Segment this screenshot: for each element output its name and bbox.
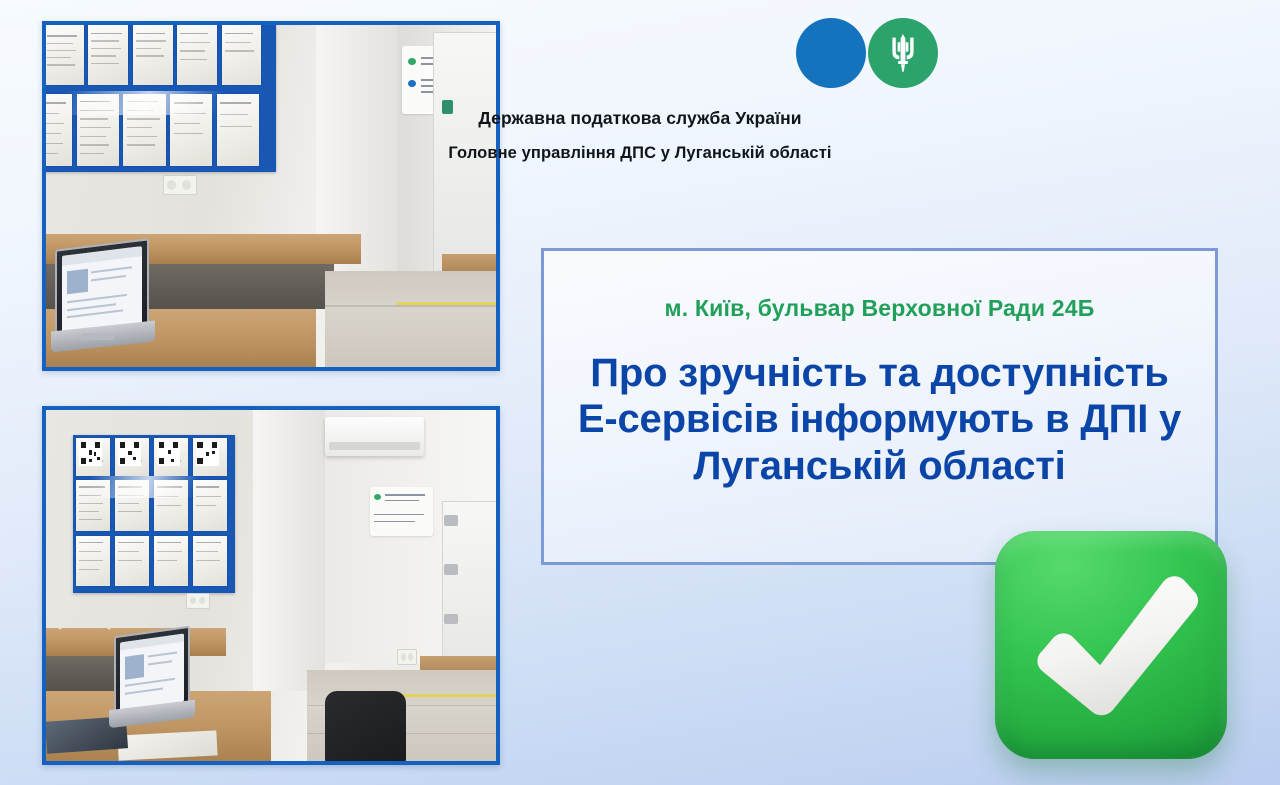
cabinet-handle — [444, 614, 458, 625]
cabinet-handle — [444, 564, 458, 575]
qr-code — [79, 441, 102, 466]
floor-marking — [397, 302, 496, 305]
cabinet-door — [442, 501, 498, 671]
qr-code — [196, 441, 219, 466]
org-name-line-1: Державна податкова служба України — [0, 108, 1280, 129]
notice-sheet — [115, 536, 149, 587]
cabinet-handle — [444, 515, 458, 526]
notice-sheet — [222, 23, 262, 85]
office-chair — [325, 691, 406, 765]
qr-code — [157, 441, 180, 466]
photo-bottom — [42, 406, 500, 765]
notice-sheet — [76, 536, 110, 587]
headline-line-1: Про зручність та доступність — [546, 350, 1213, 396]
logo-blue-circle — [796, 18, 866, 88]
dps-logo — [796, 18, 950, 88]
headline-line-2: Е-сервісів інформують в ДПІ у — [546, 396, 1213, 442]
notice-sheet — [154, 536, 188, 587]
org-name-line-2: Головне управління ДПС у Луганській обла… — [0, 144, 1280, 163]
power-socket — [186, 593, 211, 609]
address-line: м. Київ, бульвар Верховної Ради 24Б — [541, 295, 1218, 322]
power-socket — [163, 175, 197, 194]
air-conditioner — [325, 417, 424, 456]
photo-top-scene — [46, 25, 496, 367]
board-glare — [73, 476, 235, 498]
check-mark-badge — [995, 531, 1227, 759]
notice-sheet — [88, 23, 128, 85]
power-socket — [397, 649, 417, 665]
headline-line-3: Луганській області — [546, 443, 1213, 489]
laptop-ui — [120, 633, 183, 710]
check-mark-icon — [995, 531, 1227, 759]
notice-board — [73, 435, 235, 593]
page-title: Про зручність та доступність Е-сервісів … — [546, 350, 1213, 489]
photo-bottom-scene — [46, 410, 496, 761]
notice-sheet — [44, 25, 84, 85]
notice-sheet — [133, 23, 173, 85]
ukraine-trident-icon — [868, 18, 938, 88]
paper-stack — [117, 730, 217, 760]
wall-sign — [370, 487, 433, 536]
qr-code — [118, 441, 141, 466]
floor-seam — [325, 305, 496, 307]
notice-sheet — [193, 536, 227, 587]
photo-top — [42, 21, 500, 371]
wall-column — [253, 410, 325, 691]
laptop-trackpad — [82, 333, 114, 340]
floor-marking — [397, 694, 496, 697]
laptop-ui — [62, 246, 141, 334]
notice-board-inner — [73, 435, 235, 593]
cable — [51, 621, 118, 660]
floor — [325, 271, 496, 367]
notice-sheet — [177, 23, 217, 85]
poster-canvas: Державна податкова служба України Головн… — [0, 0, 1280, 785]
